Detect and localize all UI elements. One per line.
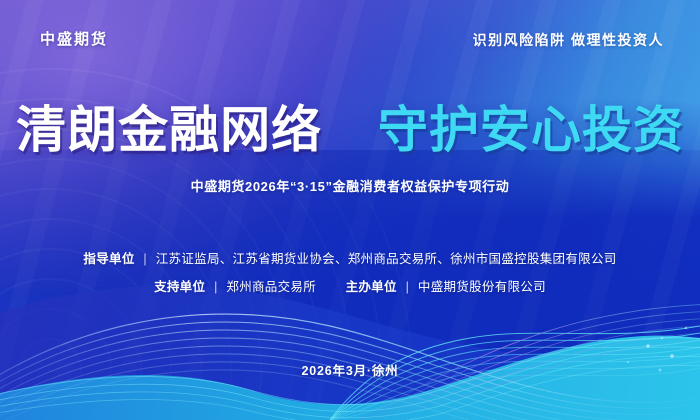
page-title-part-b: 守护安心投资 bbox=[378, 102, 684, 158]
organizer-label-host: 主办单位 bbox=[346, 280, 397, 294]
promotional-banner: 中盛期货 识别风险陷阱 做理性投资人 清朗金融网络 守护安心投资 中盛期货202… bbox=[0, 0, 700, 420]
page-title: 清朗金融网络 守护安心投资 bbox=[0, 105, 700, 155]
organizer-separator-host: | bbox=[401, 280, 415, 294]
organizer-block: 指导单位 | 江苏证监局、江苏省期货业协会、郑州商品交易所、徐州市国盛控股集团有… bbox=[0, 248, 700, 295]
brand-logo-text: 中盛期货 bbox=[40, 28, 108, 49]
organizer-value-support: 郑州商品交易所 bbox=[226, 280, 316, 294]
organizer-value-host: 中盛期货股份有限公司 bbox=[418, 280, 546, 294]
brand-tagline: 识别风险陷阱 做理性投资人 bbox=[473, 30, 664, 50]
page-title-part-a: 清朗金融网络 bbox=[16, 102, 322, 158]
organizer-value-guidance: 江苏证监局、江苏省期货业协会、郑州商品交易所、徐州市国盛控股集团有限公司 bbox=[156, 252, 617, 266]
organizer-label-guidance: 指导单位 bbox=[83, 252, 134, 266]
organizer-line-guidance: 指导单位 | 江苏证监局、江苏省期货业协会、郑州商品交易所、徐州市国盛控股集团有… bbox=[0, 248, 700, 267]
organizer-separator-support: | bbox=[209, 280, 223, 294]
page-subtitle: 中盛期货2026年“3·15”金融消费者权益保护专项行动 bbox=[0, 176, 700, 195]
footer-date-location: 2026年3月·徐州 bbox=[0, 360, 700, 379]
organizer-label-support: 支持单位 bbox=[154, 280, 205, 294]
organizer-separator: | bbox=[138, 252, 152, 266]
organizer-line-support-host: 支持单位 | 郑州商品交易所 主办单位 | 中盛期货股份有限公司 bbox=[0, 276, 700, 295]
